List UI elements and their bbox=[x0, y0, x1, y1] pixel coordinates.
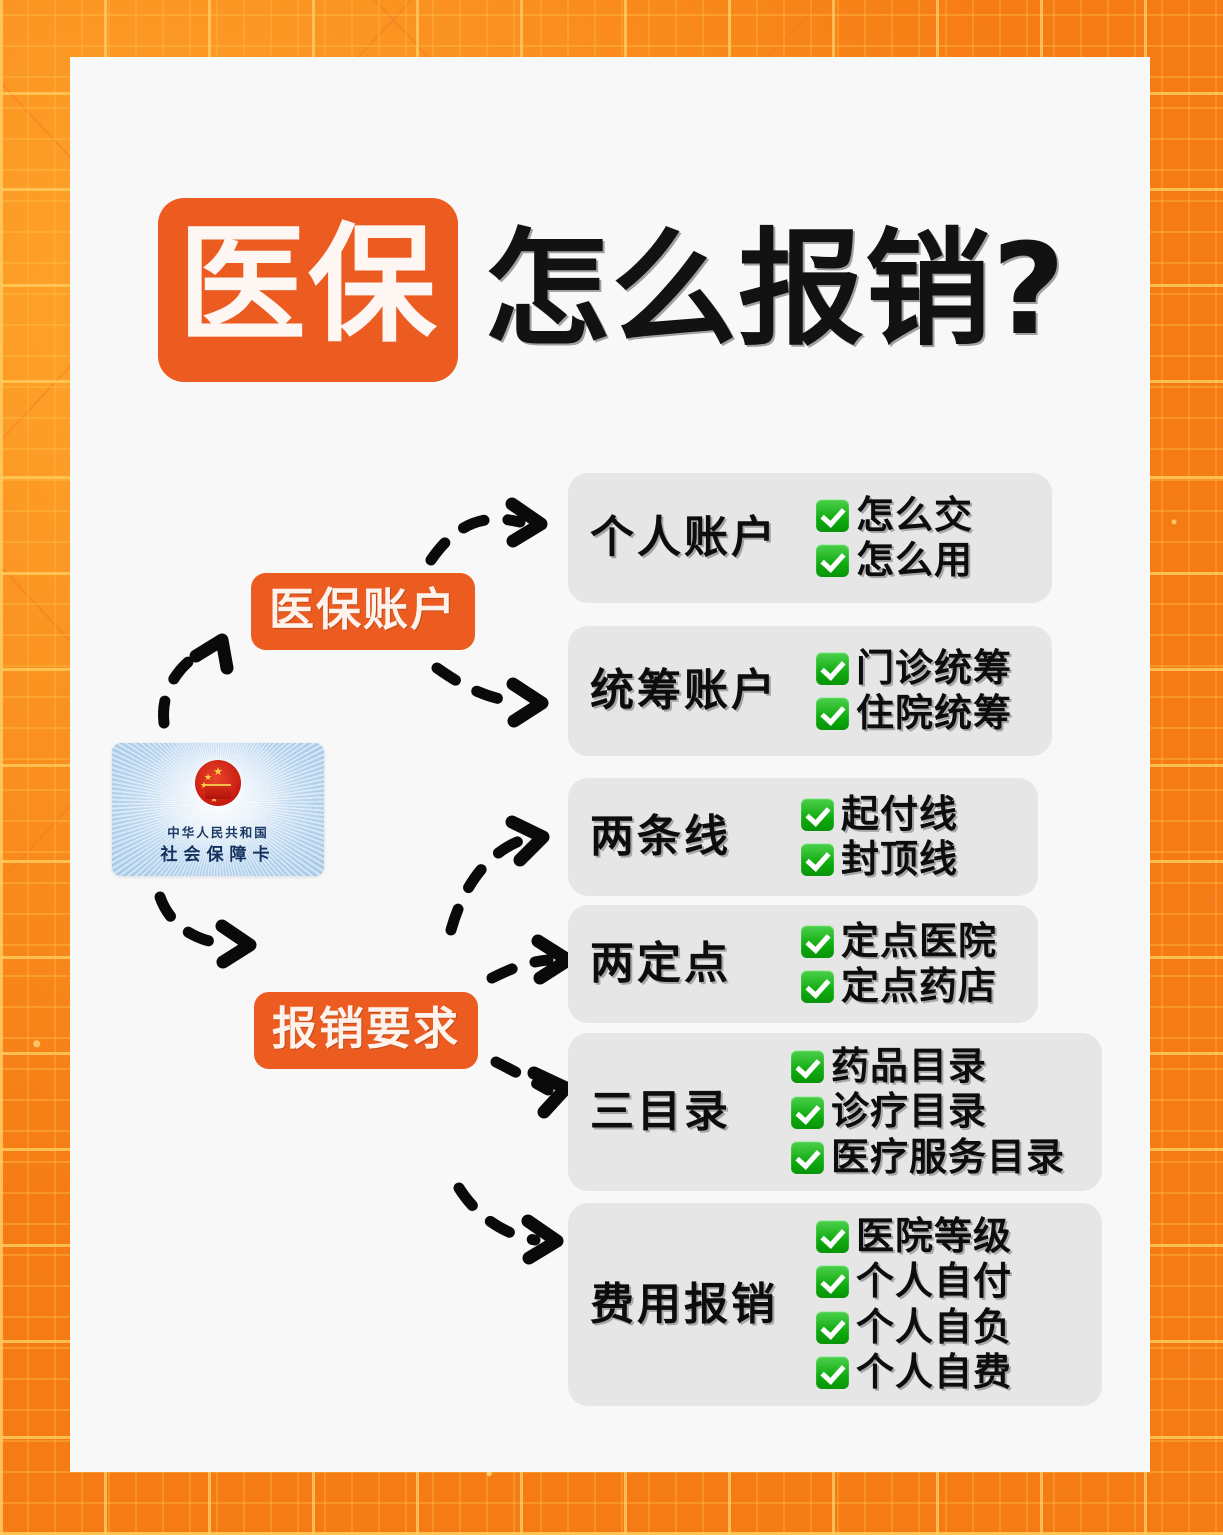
national-emblem-icon: ★ ★ ★ ★ ★ bbox=[195, 760, 241, 806]
list-item: 门诊统筹 bbox=[816, 646, 1012, 691]
check-icon bbox=[801, 970, 834, 1003]
card-two-designated[interactable]: 两定点 定点医院 定点药店 bbox=[568, 905, 1038, 1023]
check-icon bbox=[791, 1050, 824, 1083]
list-item: 医疗服务目录 bbox=[791, 1135, 1065, 1180]
social-security-card-image: ★ ★ ★ ★ ★ 中华人民共和国 社会保障卡 bbox=[112, 743, 324, 876]
card-name-line: 社会保障卡 bbox=[112, 840, 324, 865]
list-item: 诊疗目录 bbox=[791, 1089, 1065, 1134]
list-item: 起付线 bbox=[801, 792, 958, 837]
list-item: 医院等级 bbox=[816, 1214, 1012, 1259]
card-title: 两定点 bbox=[590, 942, 731, 986]
check-icon bbox=[791, 1141, 824, 1174]
check-icon bbox=[801, 798, 834, 831]
list-item: 怎么交 bbox=[816, 493, 973, 538]
card-pooled-account[interactable]: 统筹账户 门诊统筹 住院统筹 bbox=[568, 626, 1052, 756]
list-item: 个人自负 bbox=[816, 1305, 1012, 1350]
check-icon bbox=[816, 1265, 849, 1298]
title-question-text: 怎么报销? bbox=[484, 221, 1066, 360]
card-item-list: 门诊统筹 住院统筹 bbox=[816, 646, 1012, 736]
check-icon bbox=[801, 925, 834, 958]
infographic-root: 医保 怎么报销? ★ ★ ★ ★ ★ 中华人民共和国 社会保障卡 医保账户 报销… bbox=[0, 0, 1223, 1535]
node-reimbursement-requirements[interactable]: 报销要求 bbox=[254, 992, 478, 1069]
card-item-list: 药品目录 诊疗目录 医疗服务目录 bbox=[791, 1044, 1065, 1180]
node-medical-insurance-account[interactable]: 医保账户 bbox=[251, 573, 475, 650]
check-icon bbox=[816, 499, 849, 532]
card-country-line: 中华人民共和国 bbox=[112, 822, 324, 841]
card-title: 费用报销 bbox=[590, 1283, 778, 1327]
check-icon bbox=[791, 1096, 824, 1129]
check-icon bbox=[816, 1220, 849, 1253]
page-title: 医保 怎么报销? bbox=[158, 198, 1066, 382]
list-item: 定点药店 bbox=[801, 964, 997, 1009]
card-title: 统筹账户 bbox=[590, 669, 778, 713]
card-three-catalogs[interactable]: 三目录 药品目录 诊疗目录 医疗服务目录 bbox=[568, 1033, 1102, 1191]
list-item: 住院统筹 bbox=[816, 691, 1012, 736]
card-item-list: 起付线 封顶线 bbox=[801, 792, 958, 882]
card-title: 个人账户 bbox=[590, 516, 778, 560]
card-item-list: 医院等级 个人自付 个人自负 个人自费 bbox=[816, 1214, 1012, 1395]
card-title: 两条线 bbox=[590, 815, 731, 859]
check-icon bbox=[816, 1356, 849, 1389]
list-item: 药品目录 bbox=[791, 1044, 1065, 1089]
card-expense-reimbursement[interactable]: 费用报销 医院等级 个人自付 个人自负 个人自费 bbox=[568, 1203, 1102, 1406]
check-icon bbox=[816, 697, 849, 730]
card-item-list: 怎么交 怎么用 bbox=[816, 493, 973, 583]
card-title: 三目录 bbox=[590, 1090, 731, 1134]
check-icon bbox=[816, 1311, 849, 1344]
card-personal-account[interactable]: 个人账户 怎么交 怎么用 bbox=[568, 473, 1052, 603]
check-icon bbox=[816, 544, 849, 577]
list-item: 定点医院 bbox=[801, 919, 997, 964]
card-item-list: 定点医院 定点药店 bbox=[801, 919, 997, 1009]
title-badge-yibao: 医保 bbox=[158, 198, 458, 382]
list-item: 怎么用 bbox=[816, 538, 973, 583]
list-item: 个人自费 bbox=[816, 1350, 1012, 1395]
card-two-lines[interactable]: 两条线 起付线 封顶线 bbox=[568, 778, 1038, 896]
check-icon bbox=[801, 843, 834, 876]
list-item: 封顶线 bbox=[801, 837, 958, 882]
check-icon bbox=[816, 652, 849, 685]
list-item: 个人自付 bbox=[816, 1259, 1012, 1304]
